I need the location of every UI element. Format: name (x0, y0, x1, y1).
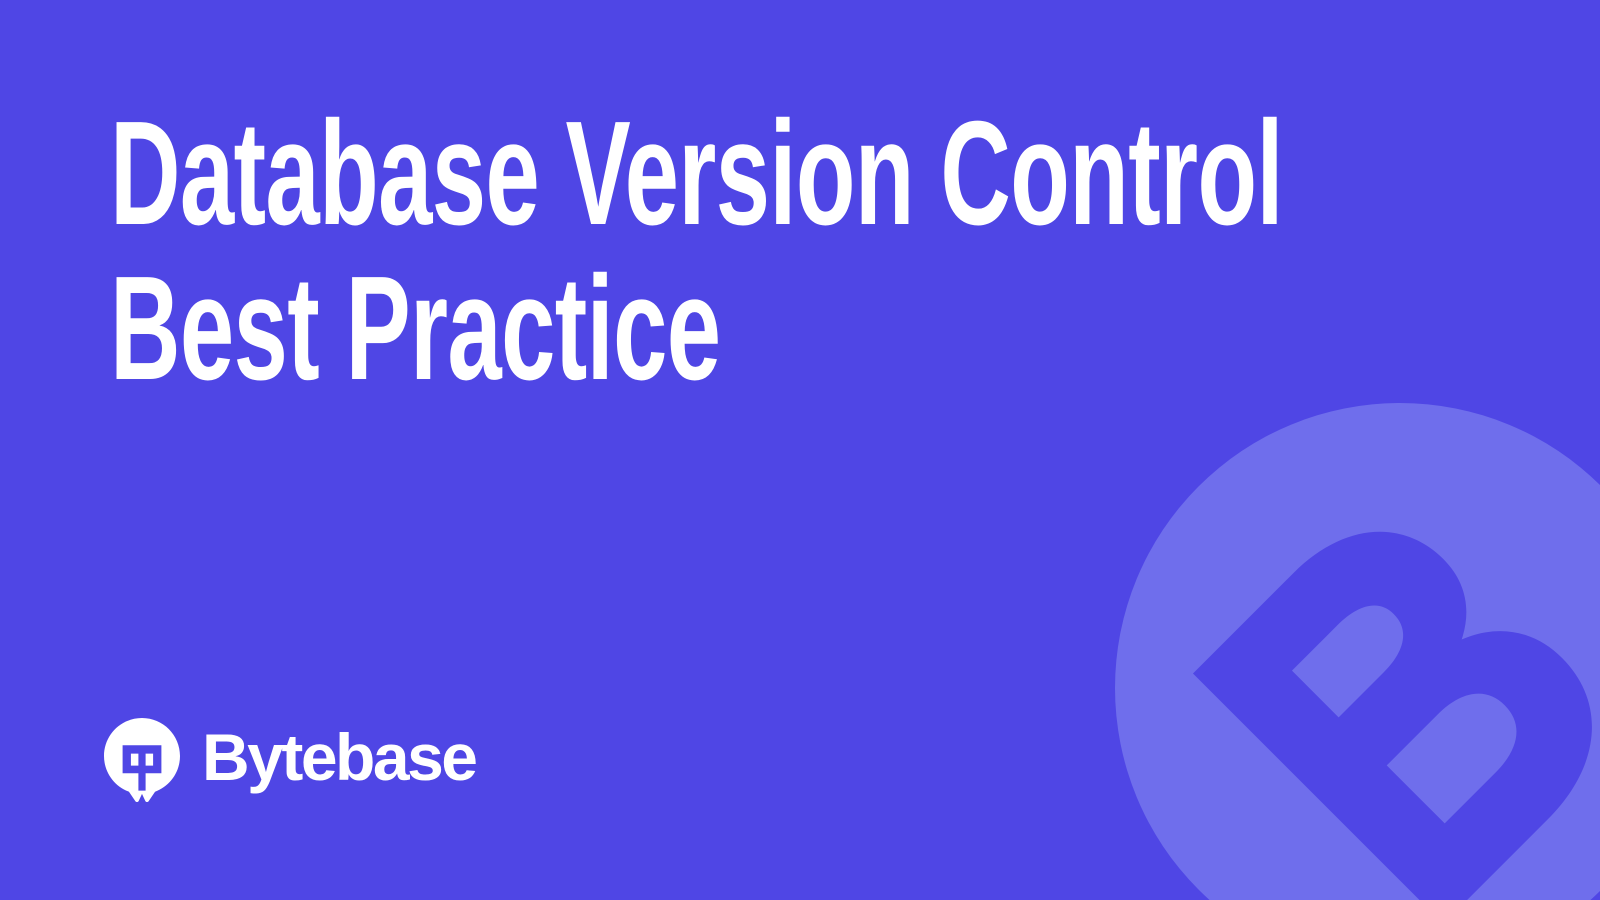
watermark-circle (1115, 403, 1600, 900)
headline-line-1: Database Version Control (110, 96, 1008, 251)
brand-logo-lockup[interactable]: Bytebase (104, 718, 476, 802)
page-title: Database Version Control Best Practice (110, 96, 1470, 406)
watermark-b-glyph (1193, 481, 1600, 900)
watermark-bytebase-b (1115, 403, 1600, 900)
headline-line-2: Best Practice (110, 251, 1008, 406)
bytebase-logo-icon (104, 718, 180, 802)
bytebase-wordmark: Bytebase (202, 724, 476, 790)
banner-canvas: Database Version Control Best Practice B… (0, 0, 1600, 900)
